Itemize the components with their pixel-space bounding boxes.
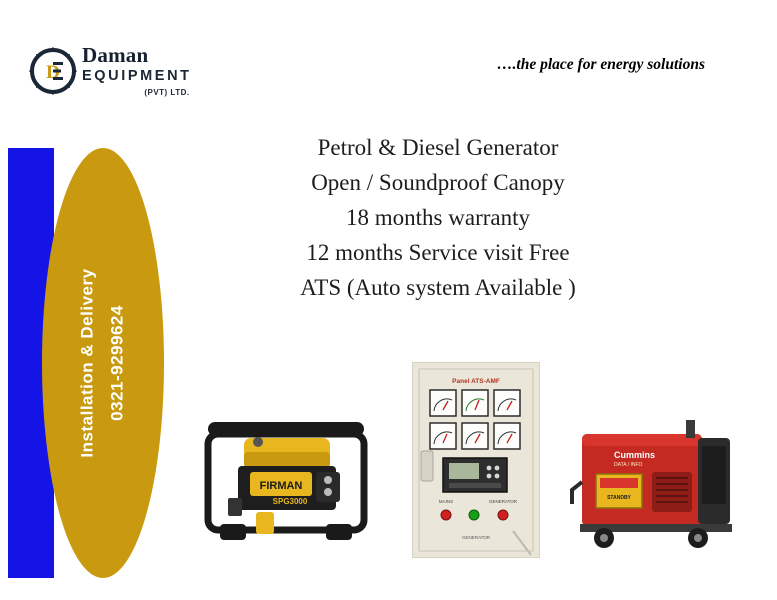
- svg-text:SPG3000: SPG3000: [273, 497, 308, 506]
- svg-text:Panel ATS-AMF: Panel ATS-AMF: [452, 378, 500, 385]
- poster-canvas: D Daman EQUIPMENT (PVT) LTD. ….the place…: [0, 0, 777, 600]
- gear-icon: D: [28, 46, 78, 96]
- svg-text:STANDBY: STANDBY: [607, 495, 631, 501]
- svg-text:MAINS: MAINS: [439, 499, 453, 504]
- company-logo: D Daman EQUIPMENT (PVT) LTD.: [20, 22, 182, 120]
- logo-name-equipment: EQUIPMENT: [82, 69, 192, 84]
- svg-text:FIRMAN: FIRMAN: [260, 480, 303, 492]
- side-banner-phone: 0321-9299624: [108, 305, 127, 421]
- product-photo-soundproof-generator: Cummins DATA / INFO STANDBY: [570, 412, 744, 558]
- logo-wordmark: Daman EQUIPMENT (PVT) LTD.: [82, 45, 192, 97]
- headline-line-2: Open / Soundproof Canopy: [248, 165, 628, 200]
- headline-line-1: Petrol & Diesel Generator: [248, 130, 628, 165]
- headline-block: Petrol & Diesel Generator Open / Soundpr…: [248, 130, 628, 305]
- logo-name-daman: Daman: [82, 45, 192, 66]
- side-banner-text: Installation & Delivery 0321-9299624: [42, 148, 164, 578]
- svg-text:DATA / INFO: DATA / INFO: [614, 462, 643, 468]
- headline-line-3: 18 months warranty: [248, 200, 628, 235]
- side-banner-service: Installation & Delivery: [78, 268, 97, 457]
- product-photo-control-panel: Panel ATS-AMF: [412, 362, 540, 558]
- tagline: ….the place for energy solutions: [497, 56, 705, 74]
- svg-text:GENERATOR: GENERATOR: [489, 499, 518, 504]
- headline-line-4: 12 months Service visit Free: [248, 235, 628, 270]
- svg-text:Cummins: Cummins: [614, 450, 655, 460]
- svg-text:GENERATOR: GENERATOR: [462, 535, 491, 540]
- logo-name-pvt-ltd: (PVT) LTD.: [82, 89, 192, 97]
- product-photo-portable-generator: FIRMAN SPG3000: [198, 404, 374, 556]
- headline-line-5: ATS (Auto system Available ): [248, 270, 628, 305]
